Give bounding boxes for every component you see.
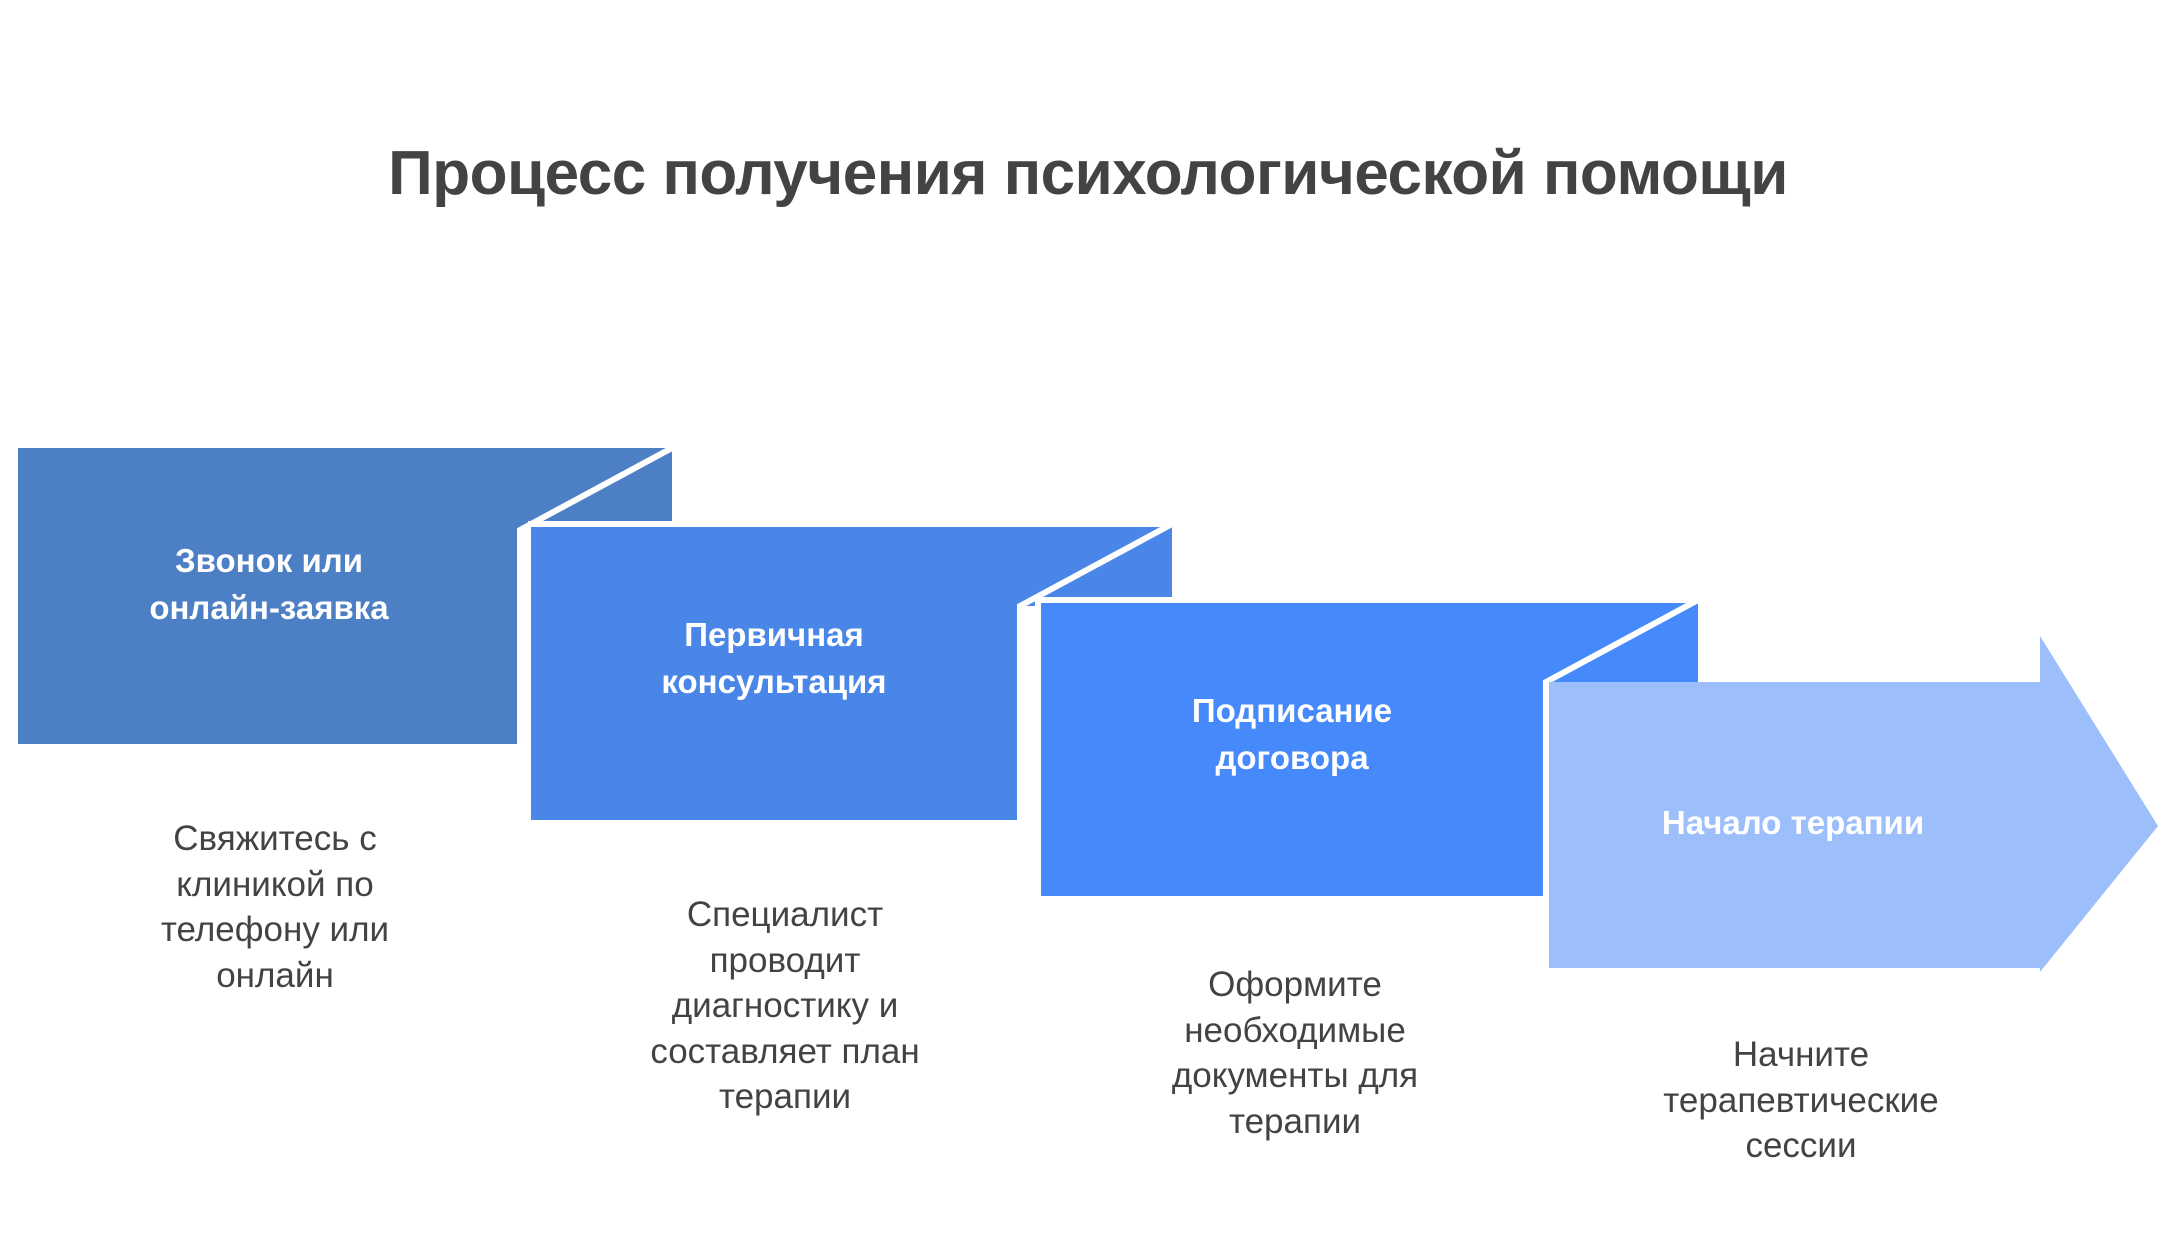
step-2-caption: Специалист проводит диагностику и состав… bbox=[540, 892, 1030, 1120]
process-step-4-shape[interactable] bbox=[1546, 636, 2158, 972]
step-3-caption: Оформите необходимые документы для терап… bbox=[1050, 962, 1540, 1144]
step-4-arrow-body bbox=[1546, 636, 2158, 972]
step-4-caption: Начните терапевтические сессии bbox=[1556, 1032, 2046, 1169]
step-1-caption: Свяжитесь с клиникой по телефону или онл… bbox=[30, 816, 520, 998]
slide-canvas: Процесс получения психологической помощи bbox=[0, 0, 2176, 1256]
